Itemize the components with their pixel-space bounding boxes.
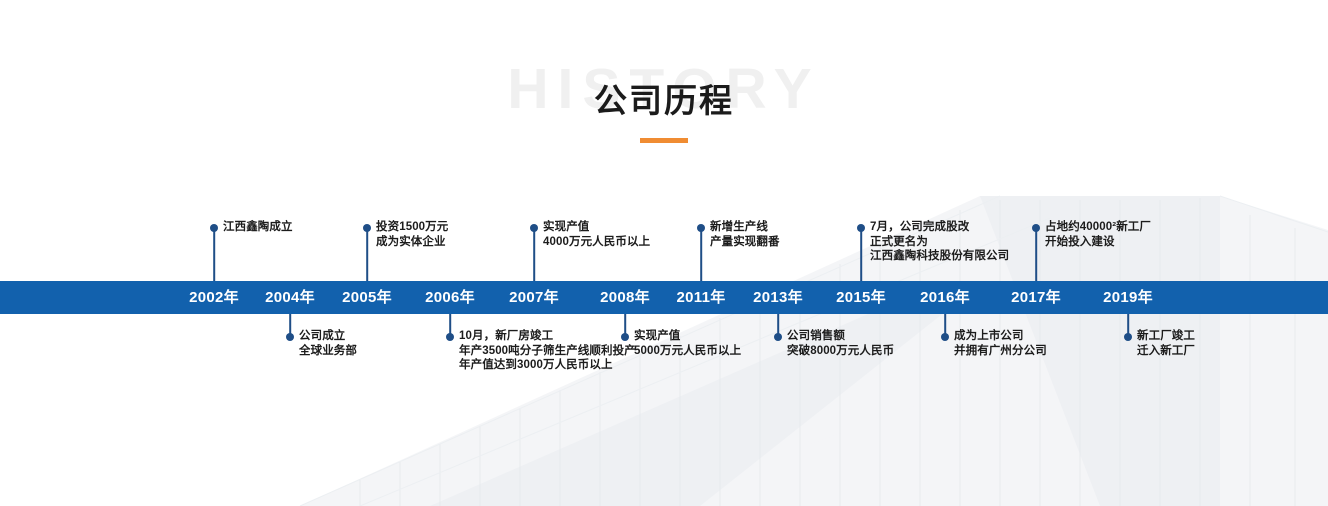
timeline-event-text: 公司销售额突破8000万元人民币 <box>787 329 894 358</box>
timeline-year-label[interactable]: 2011年 <box>676 281 725 314</box>
timeline-event-line: 全球业务部 <box>299 344 357 359</box>
timeline-year-label[interactable]: 2005年 <box>342 281 392 314</box>
timeline-event-line: 投资1500万元 <box>376 220 448 235</box>
page-title: 公司历程 <box>0 81 1328 121</box>
timeline-year-label[interactable]: 2013年 <box>753 281 803 314</box>
timeline-event-line: 5000万元人民币以上 <box>634 344 741 359</box>
timeline-connector-line <box>777 314 779 337</box>
timeline-event-line: 迁入新工厂 <box>1137 344 1195 359</box>
timeline-event-line: 江西鑫陶科技股份有限公司 <box>870 249 1009 264</box>
timeline-event-line: 开始投入建设 <box>1045 235 1151 250</box>
timeline-event-line: 占地约40000²新工厂 <box>1045 220 1151 235</box>
timeline-connector-line <box>449 314 451 337</box>
timeline-event-line: 江西鑫陶成立 <box>223 220 293 235</box>
timeline-year-label[interactable]: 2017年 <box>1011 281 1061 314</box>
timeline-year-label[interactable]: 2019年 <box>1103 281 1153 314</box>
timeline-connector-line <box>533 228 535 281</box>
timeline-connector-line <box>624 314 626 337</box>
timeline-year-label[interactable]: 2016年 <box>920 281 970 314</box>
timeline-event-line: 正式更名为 <box>870 235 1009 250</box>
timeline-event-text: 新工厂竣工迁入新工厂 <box>1137 329 1195 358</box>
timeline-year-label[interactable]: 2006年 <box>425 281 475 314</box>
timeline-event-text: 投资1500万元成为实体企业 <box>376 220 448 249</box>
timeline-connector-line <box>213 228 215 281</box>
timeline-event-line: 产量实现翻番 <box>710 235 780 250</box>
timeline-year-label[interactable]: 2008年 <box>600 281 650 314</box>
timeline-event-line: 突破8000万元人民币 <box>787 344 894 359</box>
timeline-connector-line <box>1035 228 1037 281</box>
timeline-event-line: 实现产值 <box>634 329 741 344</box>
timeline-event-line: 7月，公司完成股改 <box>870 220 1009 235</box>
timeline-event-line: 公司成立 <box>299 329 357 344</box>
timeline-event-line: 年产3500吨分子筛生产线顺利投产 <box>459 344 636 359</box>
timeline-event-line: 实现产值 <box>543 220 650 235</box>
timeline-year-label[interactable]: 2007年 <box>509 281 559 314</box>
timeline-event-line: 并拥有广州分公司 <box>954 344 1047 359</box>
timeline-event-text: 江西鑫陶成立 <box>223 220 293 235</box>
page-header: HISTORY 公司历程 <box>0 58 1328 168</box>
timeline-event-line: 公司销售额 <box>787 329 894 344</box>
timeline-event-line: 成为实体企业 <box>376 235 448 250</box>
timeline-event-line: 年产值达到3000万人民币以上 <box>459 358 636 373</box>
timeline-event-text: 7月，公司完成股改正式更名为江西鑫陶科技股份有限公司 <box>870 220 1009 264</box>
timeline-event-line: 新工厂竣工 <box>1137 329 1195 344</box>
timeline-event-text: 实现产值4000万元人民币以上 <box>543 220 650 249</box>
timeline-event-line: 4000万元人民币以上 <box>543 235 650 250</box>
history-timeline-infographic: HISTORY 公司历程 2002年江西鑫陶成立2004年公司成立全球业务部20… <box>0 0 1328 506</box>
timeline-connector-line <box>700 228 702 281</box>
timeline-event-text: 实现产值5000万元人民币以上 <box>634 329 741 358</box>
timeline-event-text: 成为上市公司并拥有广州分公司 <box>954 329 1047 358</box>
timeline-event-line: 新增生产线 <box>710 220 780 235</box>
timeline-event-text: 占地约40000²新工厂开始投入建设 <box>1045 220 1151 249</box>
timeline-event-line: 成为上市公司 <box>954 329 1047 344</box>
timeline-year-label[interactable]: 2015年 <box>836 281 886 314</box>
timeline-connector-line <box>1127 314 1129 337</box>
timeline-event-text: 公司成立全球业务部 <box>299 329 357 358</box>
timeline-event-text: 10月，新厂房竣工年产3500吨分子筛生产线顺利投产年产值达到3000万人民币以… <box>459 329 636 373</box>
timeline-connector-line <box>860 228 862 281</box>
timeline-event-line: 10月，新厂房竣工 <box>459 329 636 344</box>
title-accent-rule <box>640 138 688 143</box>
timeline-event-text: 新增生产线产量实现翻番 <box>710 220 780 249</box>
timeline-connector-line <box>366 228 368 281</box>
timeline-connector-line <box>289 314 291 337</box>
timeline-year-label[interactable]: 2004年 <box>265 281 315 314</box>
timeline-connector-line <box>944 314 946 337</box>
timeline-year-label[interactable]: 2002年 <box>189 281 239 314</box>
